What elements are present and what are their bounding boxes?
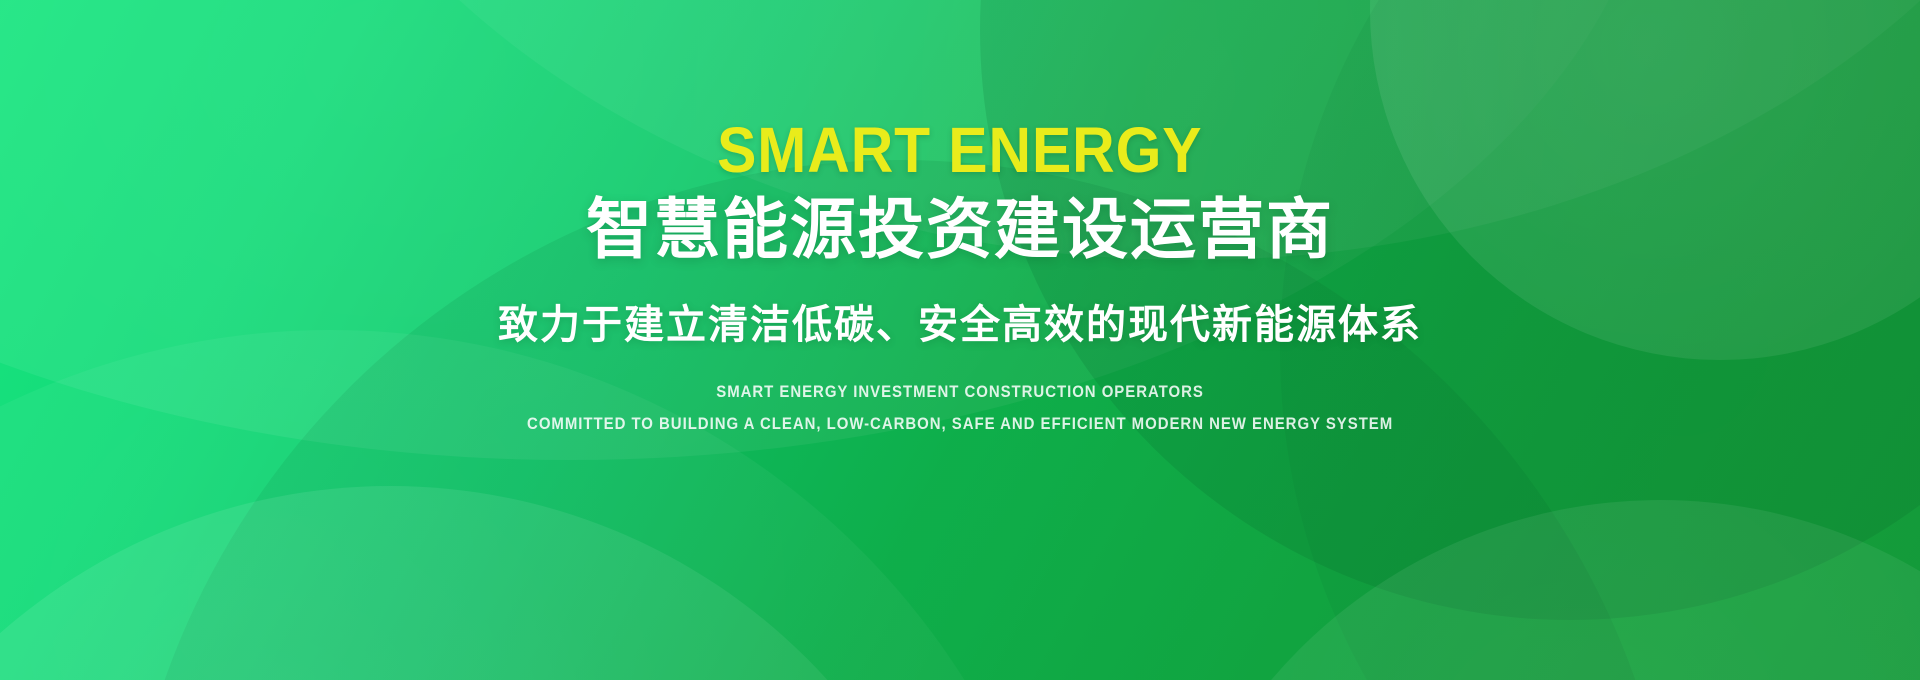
banner-caption-english-line-2: COMMITTED TO BUILDING A CLEAN, LOW-CARBO… xyxy=(527,411,1393,437)
banner-subheadline-chinese: 致力于建立清洁低碳、安全高效的现代新能源体系 xyxy=(498,301,1422,349)
hero-banner: SMART ENERGY 智慧能源投资建设运营商 致力于建立清洁低碳、安全高效的… xyxy=(0,0,1920,680)
banner-content: SMART ENERGY 智慧能源投资建设运营商 致力于建立清洁低碳、安全高效的… xyxy=(0,0,1920,680)
banner-caption-english-line-1: SMART ENERGY INVESTMENT CONSTRUCTION OPE… xyxy=(716,379,1204,405)
banner-eyebrow-english: SMART ENERGY xyxy=(717,118,1202,182)
banner-headline-chinese: 智慧能源投资建设运营商 xyxy=(586,194,1334,265)
